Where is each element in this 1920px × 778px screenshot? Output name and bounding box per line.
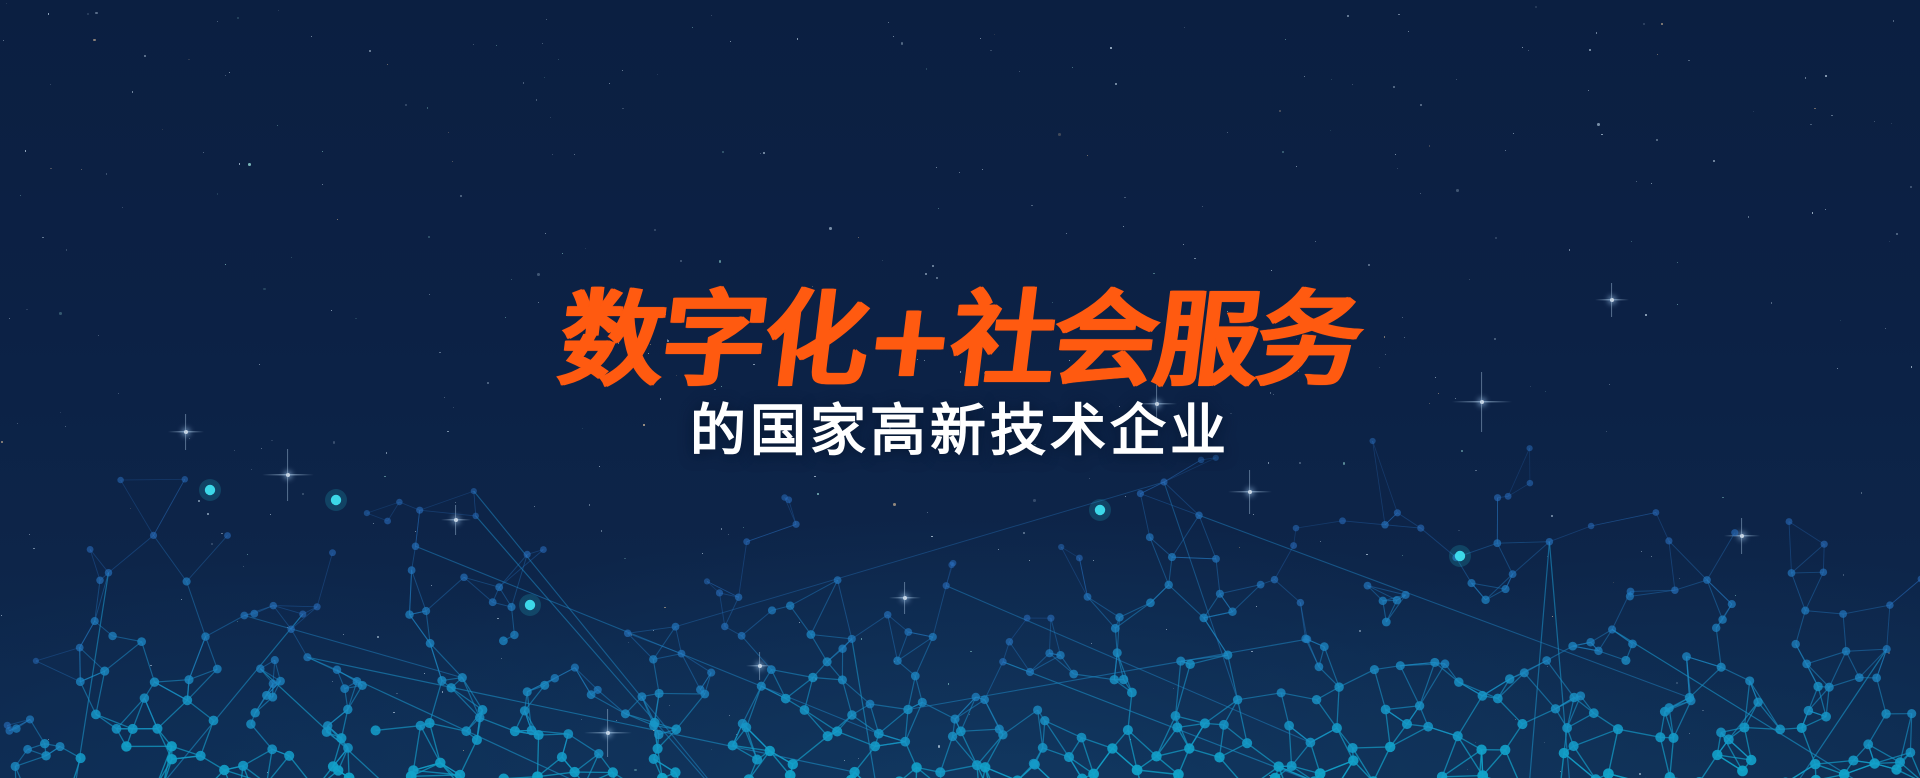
banner-stage: 数字化+社会服务 的国家高新技术企业 [0,0,1920,778]
banner-subline: 的国家高新技术企业 [0,401,1920,461]
banner-headline: 数字化+社会服务 [0,288,1920,392]
